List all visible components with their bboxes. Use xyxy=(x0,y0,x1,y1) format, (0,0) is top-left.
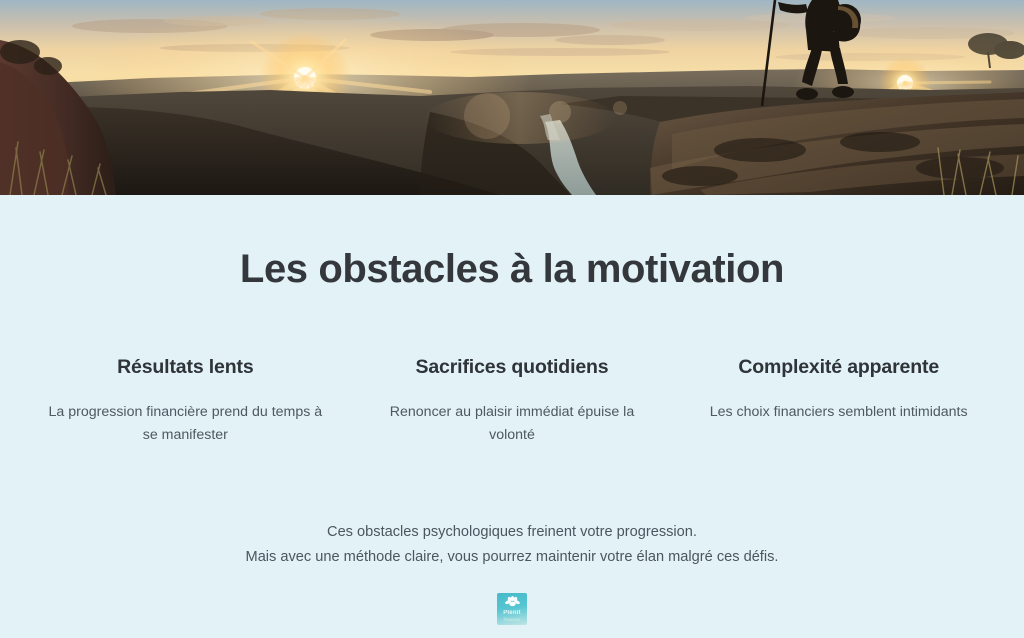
brand-name: Plenit xyxy=(503,610,521,618)
obstacle-description-1: La progression financière prend du temps… xyxy=(40,401,331,447)
obstacle-description-3: Les choix financiers semblent intimidant… xyxy=(693,401,984,424)
logo-container: Plenit finances xyxy=(0,593,1024,625)
obstacle-column-3: Complexité apparente Les choix financier… xyxy=(675,356,1002,447)
obstacle-column-1: Résultats lents La progression financièr… xyxy=(22,356,349,447)
plant-leaf-icon xyxy=(504,596,521,609)
content-area: Les obstacles à la motivation Résultats … xyxy=(0,195,1024,638)
obstacles-columns: Résultats lents La progression financièr… xyxy=(0,356,1024,447)
hero-image xyxy=(0,0,1024,195)
obstacle-column-2: Sacrifices quotidiens Renoncer au plaisi… xyxy=(349,356,676,447)
brand-subtitle: finances xyxy=(504,617,520,622)
obstacle-title-1: Résultats lents xyxy=(40,356,331,379)
closing-line-1: Ces obstacles psychologiques freinent vo… xyxy=(0,520,1024,545)
page-title: Les obstacles à la motivation xyxy=(0,246,1024,292)
closing-line-2: Mais avec une méthode claire, vous pourr… xyxy=(0,545,1024,570)
slide: Les obstacles à la motivation Résultats … xyxy=(0,0,1024,638)
obstacle-title-3: Complexité apparente xyxy=(693,356,984,379)
obstacle-description-2: Renoncer au plaisir immédiat épuise la v… xyxy=(367,401,658,447)
brand-logo-badge: Plenit finances xyxy=(497,593,527,625)
closing-paragraph: Ces obstacles psychologiques freinent vo… xyxy=(0,520,1024,570)
obstacle-title-2: Sacrifices quotidiens xyxy=(367,356,658,379)
sunset-canyon-hiker-illustration xyxy=(0,0,1024,195)
